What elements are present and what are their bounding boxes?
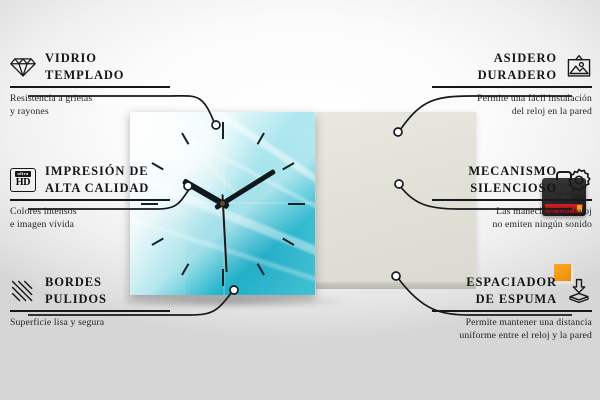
feature-divider (432, 310, 592, 312)
ultra-hd-small-label: ultra (15, 171, 30, 177)
feature-desc-2: del reloj en la pared (392, 105, 592, 118)
feature-title: BORDES (45, 274, 107, 291)
feature-title: VIDRIO (45, 50, 124, 67)
feature-impresion-alta-calidad[interactable]: ultra HD IMPRESIÓN DE ALTA CALIDAD Color… (10, 163, 210, 231)
feature-title-2: DURADERO (478, 67, 557, 84)
feature-mecanismo-silencioso[interactable]: MECANISMO SILENCIOSO Las manecillas del … (392, 163, 592, 231)
hanging-frame-icon (566, 54, 592, 80)
polished-edges-icon (10, 278, 36, 304)
feature-title: ESPACIADOR (466, 274, 557, 291)
ultra-hd-large-label: HD (16, 178, 31, 188)
feature-divider (10, 199, 170, 201)
feature-desc-2: uniforme entre el reloj y la pared (392, 329, 592, 342)
clock-center-pin (220, 201, 225, 206)
diamond-icon (10, 54, 36, 80)
feature-desc-1: Superficie lisa y segura (10, 316, 210, 329)
feature-desc-2: no emiten ningún sonido (392, 218, 592, 231)
feature-desc-1: Las manecillas del reloj (392, 205, 592, 218)
feature-desc-1: Resistencia a grietas (10, 92, 210, 105)
gear-icon (566, 167, 592, 193)
feature-divider (10, 86, 170, 88)
feature-divider (10, 310, 170, 312)
feature-title-2: ALTA CALIDAD (45, 180, 149, 197)
feature-desc-1: Permite una fácil instalación (392, 92, 592, 105)
infographic-canvas: VIDRIO TEMPLADO Resistencia a grietas y … (0, 0, 600, 400)
feature-title: ASIDERO (478, 50, 557, 67)
feature-title-2: TEMPLADO (45, 67, 124, 84)
feature-desc-2: e imagen vívida (10, 218, 210, 231)
feature-desc-2: y rayones (10, 105, 210, 118)
feature-divider (432, 86, 592, 88)
ultra-hd-icon: ultra HD (10, 168, 36, 192)
feature-bordes-pulidos[interactable]: BORDES PULIDOS Superficie lisa y segura (10, 274, 210, 329)
feature-divider (432, 199, 592, 201)
feature-vidrio-templado[interactable]: VIDRIO TEMPLADO Resistencia a grietas y … (10, 50, 210, 118)
feature-desc-1: Permite mantener una distancia (392, 316, 592, 329)
feature-espaciador-espuma[interactable]: ESPACIADOR DE ESPUMA Permite mantener un… (392, 274, 592, 342)
feature-title-2: DE ESPUMA (466, 291, 557, 308)
feature-title: MECANISMO (468, 163, 557, 180)
feature-title-2: SILENCIOSO (468, 180, 557, 197)
foam-spacer-icon (566, 278, 592, 304)
feature-title-2: PULIDOS (45, 291, 107, 308)
feature-asidero-duradero[interactable]: ASIDERO DURADERO Permite una fácil insta… (392, 50, 592, 118)
feature-desc-1: Colores intensos (10, 205, 210, 218)
feature-title: IMPRESIÓN DE (45, 163, 149, 180)
